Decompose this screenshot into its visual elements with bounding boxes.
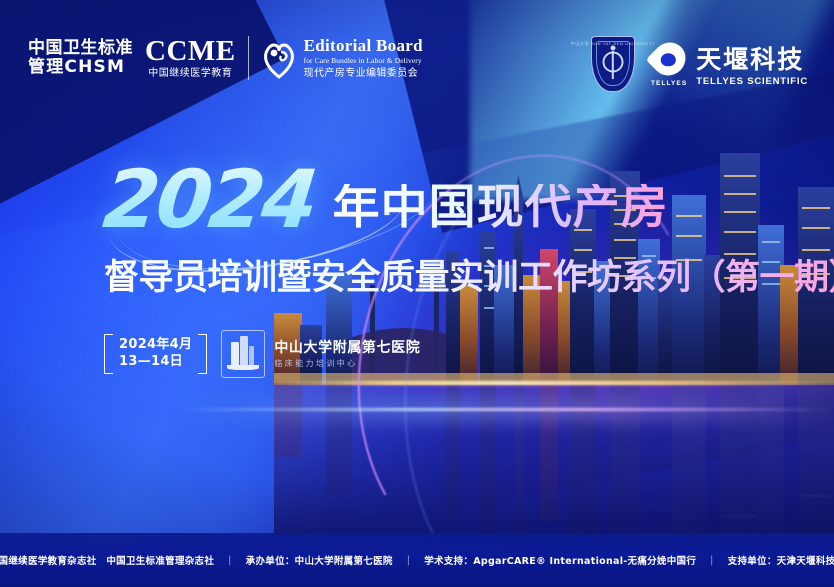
logo-divider <box>248 36 249 80</box>
heart-icon <box>261 36 297 80</box>
footer-credits: 主办单位：中国继续医学教育杂志社 中国卫生标准管理杂志社 | 承办单位：中山大学… <box>0 553 834 567</box>
sun-yat-sen-university-crest-icon: 中山大学 SUN YAT-SEN UNIVERSITY <box>591 36 635 92</box>
footer-separator-3: | <box>710 555 714 566</box>
chsm-logo-line2: 管理CHSM <box>28 58 133 77</box>
hospital-icon-base <box>227 365 259 370</box>
footer-item-organizer: 主办单位：中国继续医学教育杂志社 中国卫生标准管理杂志社 <box>0 553 214 567</box>
event-meta: 2024年4月 13—14日 中山大学附属第七医院 临床能力培训中心 <box>104 330 420 378</box>
hospital-building-icon <box>221 330 265 378</box>
event-date-line1: 2024年4月 <box>119 337 192 354</box>
footer-item-academic-support: 学术支持：ApgarCARE® International-无痛分娩中国行 <box>424 553 696 567</box>
footer-item-supporter: 支持单位：天津天堰科技股份有限公司 <box>728 553 834 567</box>
event-venue: 中山大学附属第七医院 临床能力培训中心 <box>221 330 420 378</box>
crest-dot <box>610 46 615 51</box>
footer-separator-2: | <box>407 555 411 566</box>
venue-subtitle: 临床能力培训中心 <box>274 359 420 368</box>
ccme-acronym: CCME <box>145 37 236 66</box>
title-line-1: 年中国现代产房 <box>333 184 669 235</box>
editorial-board-text: Editorial Board for Care Bundles in Labo… <box>304 37 423 79</box>
crest-ring <box>602 51 623 72</box>
hospital-icon-bar-3 <box>249 346 254 366</box>
venue-text: 中山大学附属第七医院 临床能力培训中心 <box>274 340 420 369</box>
tellyes-name-cn: 天堰科技 <box>696 47 808 72</box>
event-date-line2: 13—14日 <box>119 354 192 371</box>
ccme-subtitle: 中国继续医学教育 <box>145 69 236 79</box>
header-left-logos: 中国卫生标准 管理CHSM CCME 中国继续医学教育 Editorial Bo… <box>28 36 423 80</box>
conference-poster: 中国卫生标准 管理CHSM CCME 中国继续医学教育 Editorial Bo… <box>0 0 834 587</box>
tellyes-mark: TELLYES <box>651 42 687 87</box>
event-date: 2024年4月 13—14日 <box>104 334 207 373</box>
title-line-2: 督导员培训暨安全质量实训工作坊系列（第一期） <box>104 249 834 300</box>
header-right-logos: 中山大学 SUN YAT-SEN UNIVERSITY TELLYES 天堰科技… <box>591 36 808 92</box>
tellyes-text: 天堰科技 TELLYES SCIENTIFIC <box>696 47 808 87</box>
year-number: 2024 <box>100 166 318 235</box>
tellyes-logo: TELLYES 天堰科技 TELLYES SCIENTIFIC <box>651 42 808 87</box>
hospital-icon-bar-1 <box>231 342 239 366</box>
tellyes-mark-label: TELLYES <box>651 80 687 87</box>
tellyes-name-en: TELLYES SCIENTIFIC <box>696 77 808 87</box>
chsm-logo-line1: 中国卫生标准 <box>28 39 133 58</box>
ccme-logo: CCME 中国继续医学教育 <box>145 37 236 79</box>
venue-name: 中山大学附属第七医院 <box>274 340 420 357</box>
main-title-block: 2024 年中国现代产房 督导员培训暨安全质量实训工作坊系列（第一期） <box>104 166 834 300</box>
hospital-icon-bar-2 <box>240 336 248 366</box>
footer-bar: 主办单位：中国继续医学教育杂志社 中国卫生标准管理杂志社 | 承办单位：中山大学… <box>0 533 834 587</box>
editorial-board-line3: 现代产房专业编辑委员会 <box>304 68 423 79</box>
footer-separator-1: | <box>228 555 232 566</box>
chsm-logo: 中国卫生标准 管理CHSM <box>28 39 133 77</box>
footer-item-host: 承办单位：中山大学附属第七医院 <box>246 553 393 567</box>
editorial-board-line2: for Care Bundles in Labor & Delivery <box>304 57 423 65</box>
editorial-board-logo: Editorial Board for Care Bundles in Labo… <box>261 36 423 80</box>
title-row-1: 2024 年中国现代产房 <box>104 166 834 235</box>
editorial-board-line1: Editorial Board <box>304 37 423 56</box>
